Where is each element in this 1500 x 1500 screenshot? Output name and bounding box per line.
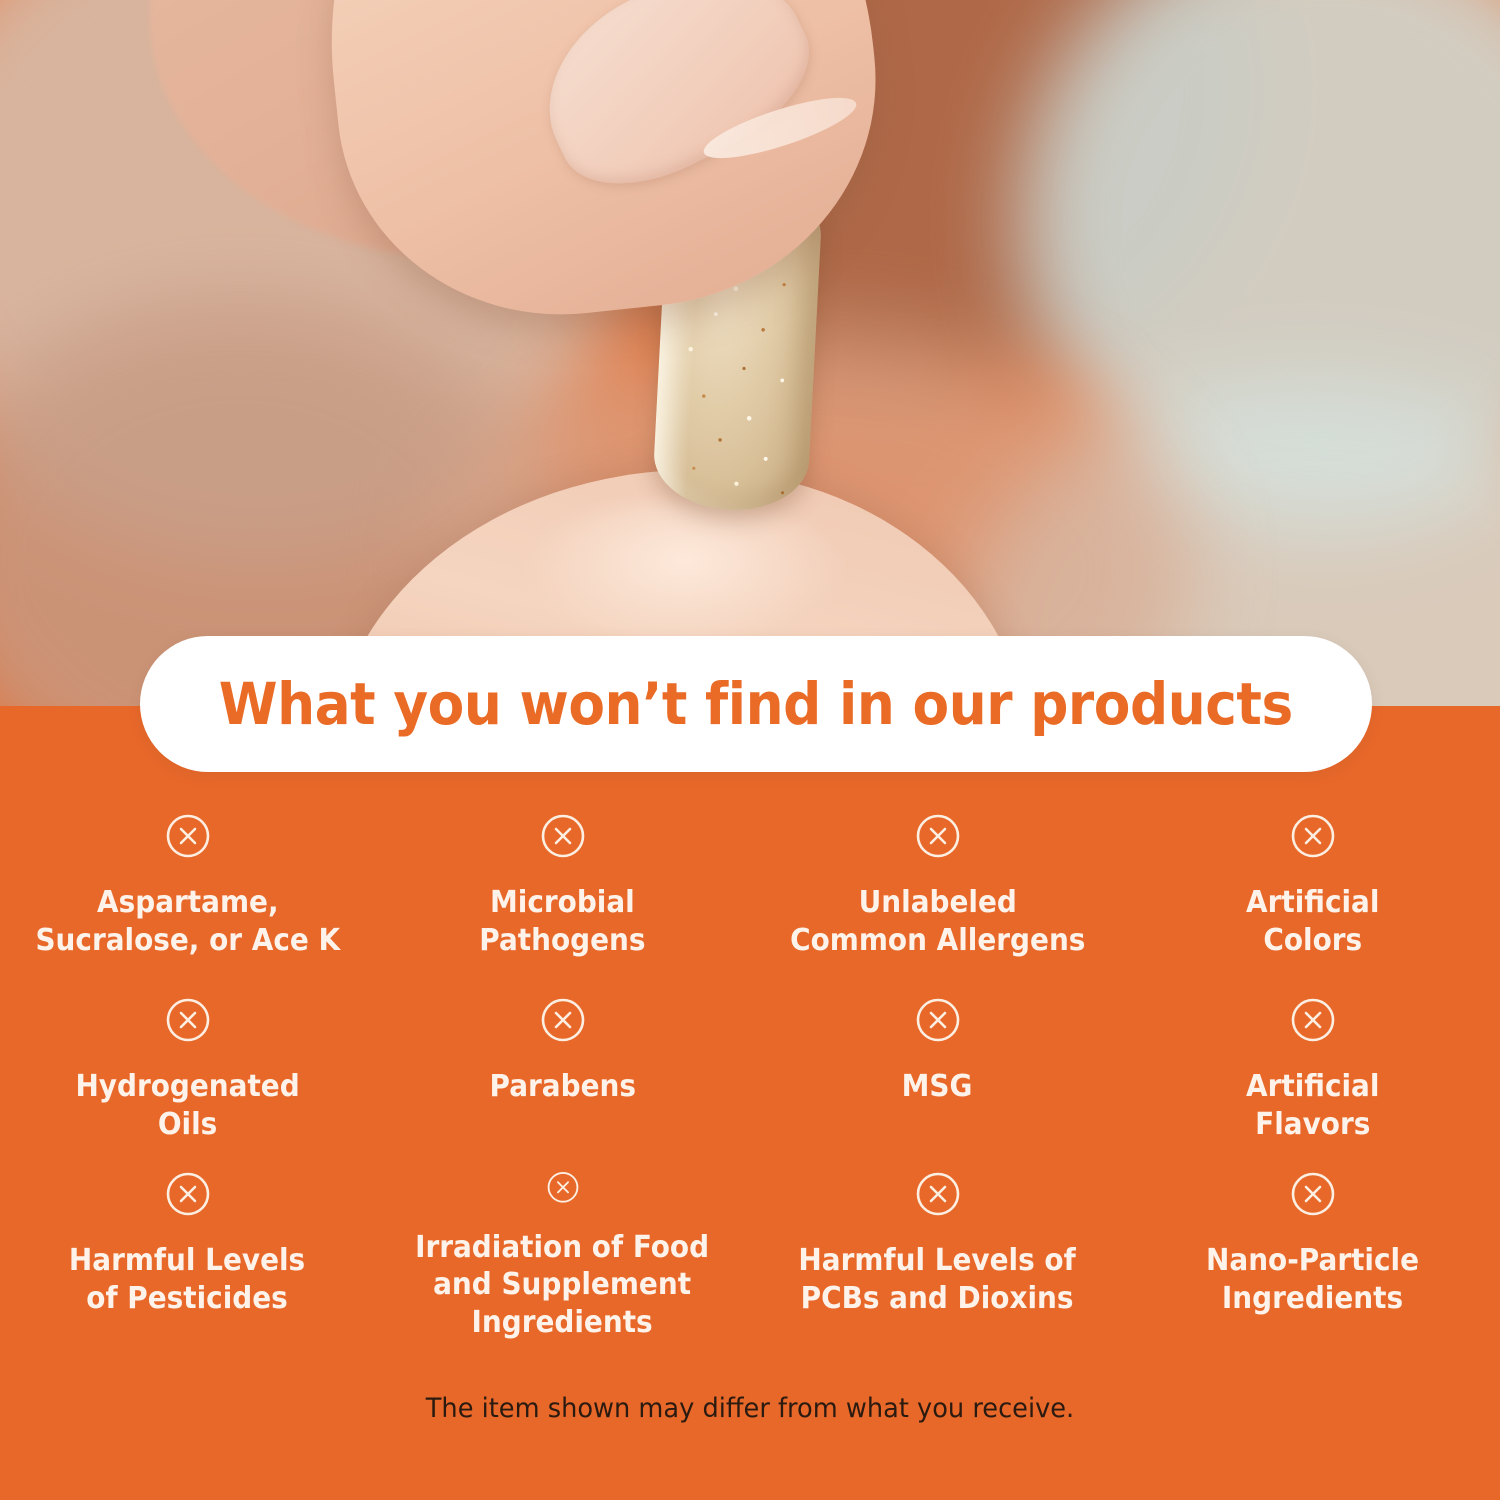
list-item-label: Hydrogenated Oils xyxy=(75,1068,299,1144)
finger-highlight xyxy=(520,500,850,650)
circle-x-icon xyxy=(539,812,587,860)
circle-x-icon xyxy=(914,812,962,860)
list-item-label: Microbial Pathogens xyxy=(479,884,645,960)
list-item-label: Unlabeled Common Allergens xyxy=(790,884,1085,960)
list-item: Artificial Flavors xyxy=(1125,996,1500,1168)
list-item-label: MSG xyxy=(902,1068,973,1106)
title-prefix: What you xyxy=(219,670,520,738)
list-item-label: Artificial Flavors xyxy=(1246,1068,1379,1144)
circle-x-icon xyxy=(1289,1170,1337,1218)
list-item: Hydrogenated Oils xyxy=(0,996,375,1168)
circle-x-icon xyxy=(1289,812,1337,860)
list-item-label: Irradiation of Food and Supplement Ingre… xyxy=(416,1229,710,1342)
exclusion-grid-row-3: Harmful Levels of Pesticides Irradiation… xyxy=(0,1170,1500,1342)
circle-x-icon xyxy=(914,1170,962,1218)
circle-x-icon xyxy=(1289,996,1337,1044)
list-item: Nano-Particle Ingredients xyxy=(1125,1170,1500,1342)
page-title: What you won’t find in our products xyxy=(219,670,1293,738)
title-card: What you won’t find in our products xyxy=(140,636,1372,772)
list-item: MSG xyxy=(750,996,1125,1168)
list-item-label: Nano-Particle Ingredients xyxy=(1206,1242,1419,1318)
list-item-label: Harmful Levels of Pesticides xyxy=(69,1242,305,1318)
product-infographic: What you won’t find in our products Aspa… xyxy=(0,0,1500,1500)
list-item-label: Artificial Colors xyxy=(1246,884,1379,960)
disclaimer-text: The item shown may differ from what you … xyxy=(38,1393,1463,1424)
title-suffix: find in our products xyxy=(687,670,1293,738)
list-item-label: Harmful Levels of PCBs and Dioxins xyxy=(799,1242,1076,1318)
list-item: Aspartame, Sucralose, or Ace K xyxy=(0,812,375,994)
circle-x-icon xyxy=(539,996,587,1044)
circle-x-icon xyxy=(914,996,962,1044)
exclusion-grid-row-2: Hydrogenated Oils Parabens MSG xyxy=(0,996,1500,1168)
list-item: Harmful Levels of Pesticides xyxy=(0,1170,375,1342)
list-item: Irradiation of Food and Supplement Ingre… xyxy=(375,1170,750,1342)
circle-x-icon xyxy=(164,1170,212,1218)
list-item: Harmful Levels of PCBs and Dioxins xyxy=(750,1170,1125,1342)
list-item: Artificial Colors xyxy=(1125,812,1500,994)
list-item-label: Parabens xyxy=(489,1068,635,1106)
title-emphasis: won’t xyxy=(520,670,687,738)
exclusion-grid-row-1: Aspartame, Sucralose, or Ace K Microbial… xyxy=(0,812,1500,994)
circle-x-icon xyxy=(164,996,212,1044)
circle-x-icon xyxy=(164,812,212,860)
list-item: Unlabeled Common Allergens xyxy=(750,812,1125,994)
list-item: Parabens xyxy=(375,996,750,1168)
list-item-label: Aspartame, Sucralose, or Ace K xyxy=(35,884,340,960)
product-photo xyxy=(0,0,1500,712)
list-item: Microbial Pathogens xyxy=(375,812,750,994)
circle-x-icon xyxy=(539,1170,587,1205)
